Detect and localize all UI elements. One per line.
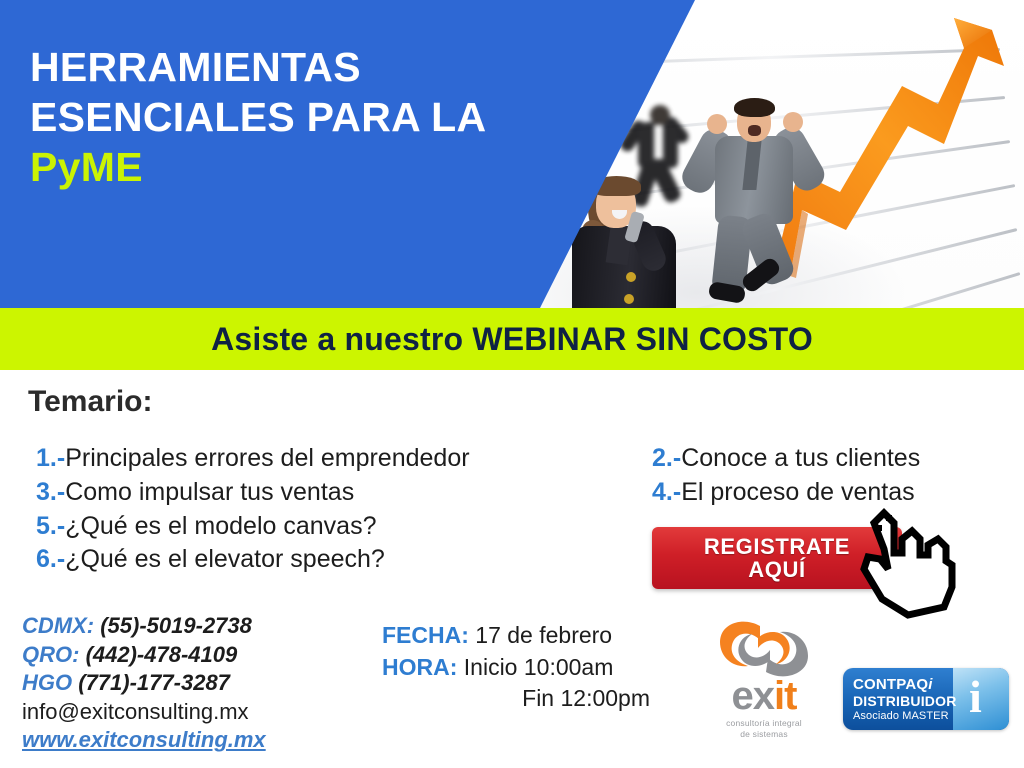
list-item: 2.-Conoce a tus clientes xyxy=(652,442,1024,476)
item-label: Como impulsar tus ventas xyxy=(65,478,354,506)
agenda-list-left: 1.-Principales errores del emprendedor 3… xyxy=(36,442,636,577)
badge-line-2: DISTRIBUIDOR xyxy=(853,693,957,709)
exit-swirl-icon xyxy=(714,618,814,680)
time-start-value: Inicio 10:00am xyxy=(464,654,614,680)
pointing-hand-cursor-icon xyxy=(850,503,962,619)
event-time-row: HORA: Inicio 10:00am xyxy=(382,652,672,684)
list-item: 5.-¿Qué es el modelo canvas? xyxy=(36,510,636,544)
exit-wordmark: exit xyxy=(700,676,828,716)
exit-tagline-line-2: de sistemas xyxy=(700,729,828,740)
badge-i-letter: i xyxy=(969,674,993,724)
list-item: 3.-Como impulsar tus ventas xyxy=(36,476,636,510)
exit-word-it: it xyxy=(774,674,796,718)
item-number: 2.- xyxy=(652,444,681,472)
contact-row-hgo: HGO (771)-177-3287 xyxy=(22,669,382,698)
webinar-banner: Asiste a nuestro WEBINAR SIN COSTO xyxy=(0,308,1024,370)
list-item: 6.-¿Qué es el elevator speech? xyxy=(36,543,636,577)
register-line-1: REGISTRATE xyxy=(704,535,850,558)
agenda-heading: Temario: xyxy=(28,385,152,419)
register-line-2: AQUÍ xyxy=(748,558,805,581)
event-time-end-row: Fin 12:00pm xyxy=(382,683,672,715)
list-item: 1.-Principales errores del emprendedor xyxy=(36,442,636,476)
webinar-flyer: HERRAMIENTAS ESENCIALES PARA LA PyME Asi… xyxy=(0,0,1024,768)
contact-value: (771)-177-3287 xyxy=(78,670,230,695)
time-label: HORA: xyxy=(382,654,457,680)
contact-row-cdmx: CDMX: (55)-5019-2738 xyxy=(22,612,382,641)
event-date-row: FECHA: 17 de febrero xyxy=(382,620,672,652)
exit-tagline-line-1: consultoría integral xyxy=(700,718,828,729)
badge-line-3: Asociado MASTER xyxy=(853,710,949,722)
hero-section: HERRAMIENTAS ESENCIALES PARA LA PyME xyxy=(0,0,1024,308)
contact-value: (442)-478-4109 xyxy=(86,642,238,667)
list-item: 4.-El proceso de ventas xyxy=(652,476,1024,510)
item-number: 3.- xyxy=(36,478,65,506)
contact-value: (55)-5019-2738 xyxy=(100,613,252,638)
event-datetime-block: FECHA: 17 de febrero HORA: Inicio 10:00a… xyxy=(382,620,672,715)
item-number: 5.- xyxy=(36,512,65,540)
item-label: Conoce a tus clientes xyxy=(681,444,920,472)
item-label: El proceso de ventas xyxy=(681,478,914,506)
date-value: 17 de febrero xyxy=(475,622,612,648)
item-label: ¿Qué es el modelo canvas? xyxy=(65,512,376,540)
agenda-list-right: 2.-Conoce a tus clientes 4.-El proceso d… xyxy=(652,442,1024,510)
title-accent-pyme: PyME xyxy=(30,142,590,192)
item-number: 6.- xyxy=(36,545,65,573)
title-line-1: HERRAMIENTAS xyxy=(30,42,590,92)
contact-email[interactable]: info@exitconsulting.mx xyxy=(22,698,382,727)
contact-website-link[interactable]: www.exitconsulting.mx xyxy=(22,726,382,755)
time-end-value: Fin 12:00pm xyxy=(522,685,650,711)
contact-row-qro: QRO: (442)-478-4109 xyxy=(22,641,382,670)
exit-logo: exit consultoría integral de sistemas xyxy=(700,618,828,742)
date-label: FECHA: xyxy=(382,622,469,648)
register-cta[interactable]: REGISTRATE AQUÍ xyxy=(652,527,952,599)
badge-brand: CONTPAQ xyxy=(853,676,928,693)
jumping-man-figure xyxy=(685,98,820,303)
title-line-2: ESENCIALES PARA LA xyxy=(30,92,590,142)
badge-line-1: CONTPAQi xyxy=(853,676,933,693)
page-title: HERRAMIENTAS ESENCIALES PARA LA PyME xyxy=(30,42,590,192)
exit-tagline: consultoría integral de sistemas xyxy=(700,718,828,739)
exit-word-ex: ex xyxy=(732,674,775,718)
badge-brand-i: i xyxy=(928,676,932,693)
contact-label: HGO xyxy=(22,670,72,695)
banner-text: Asiste a nuestro WEBINAR SIN COSTO xyxy=(211,321,813,358)
item-number: 4.- xyxy=(652,478,681,506)
contact-block: CDMX: (55)-5019-2738 QRO: (442)-478-4109… xyxy=(22,612,382,755)
contact-label: CDMX: xyxy=(22,613,94,638)
item-label: Principales errores del emprendedor xyxy=(65,444,469,472)
item-label: ¿Qué es el elevator speech? xyxy=(65,545,385,573)
contact-label: QRO: xyxy=(22,642,79,667)
contpaqi-partner-badge: i CONTPAQi DISTRIBUIDOR Asociado MASTER xyxy=(843,668,1009,730)
item-number: 1.- xyxy=(36,444,65,472)
